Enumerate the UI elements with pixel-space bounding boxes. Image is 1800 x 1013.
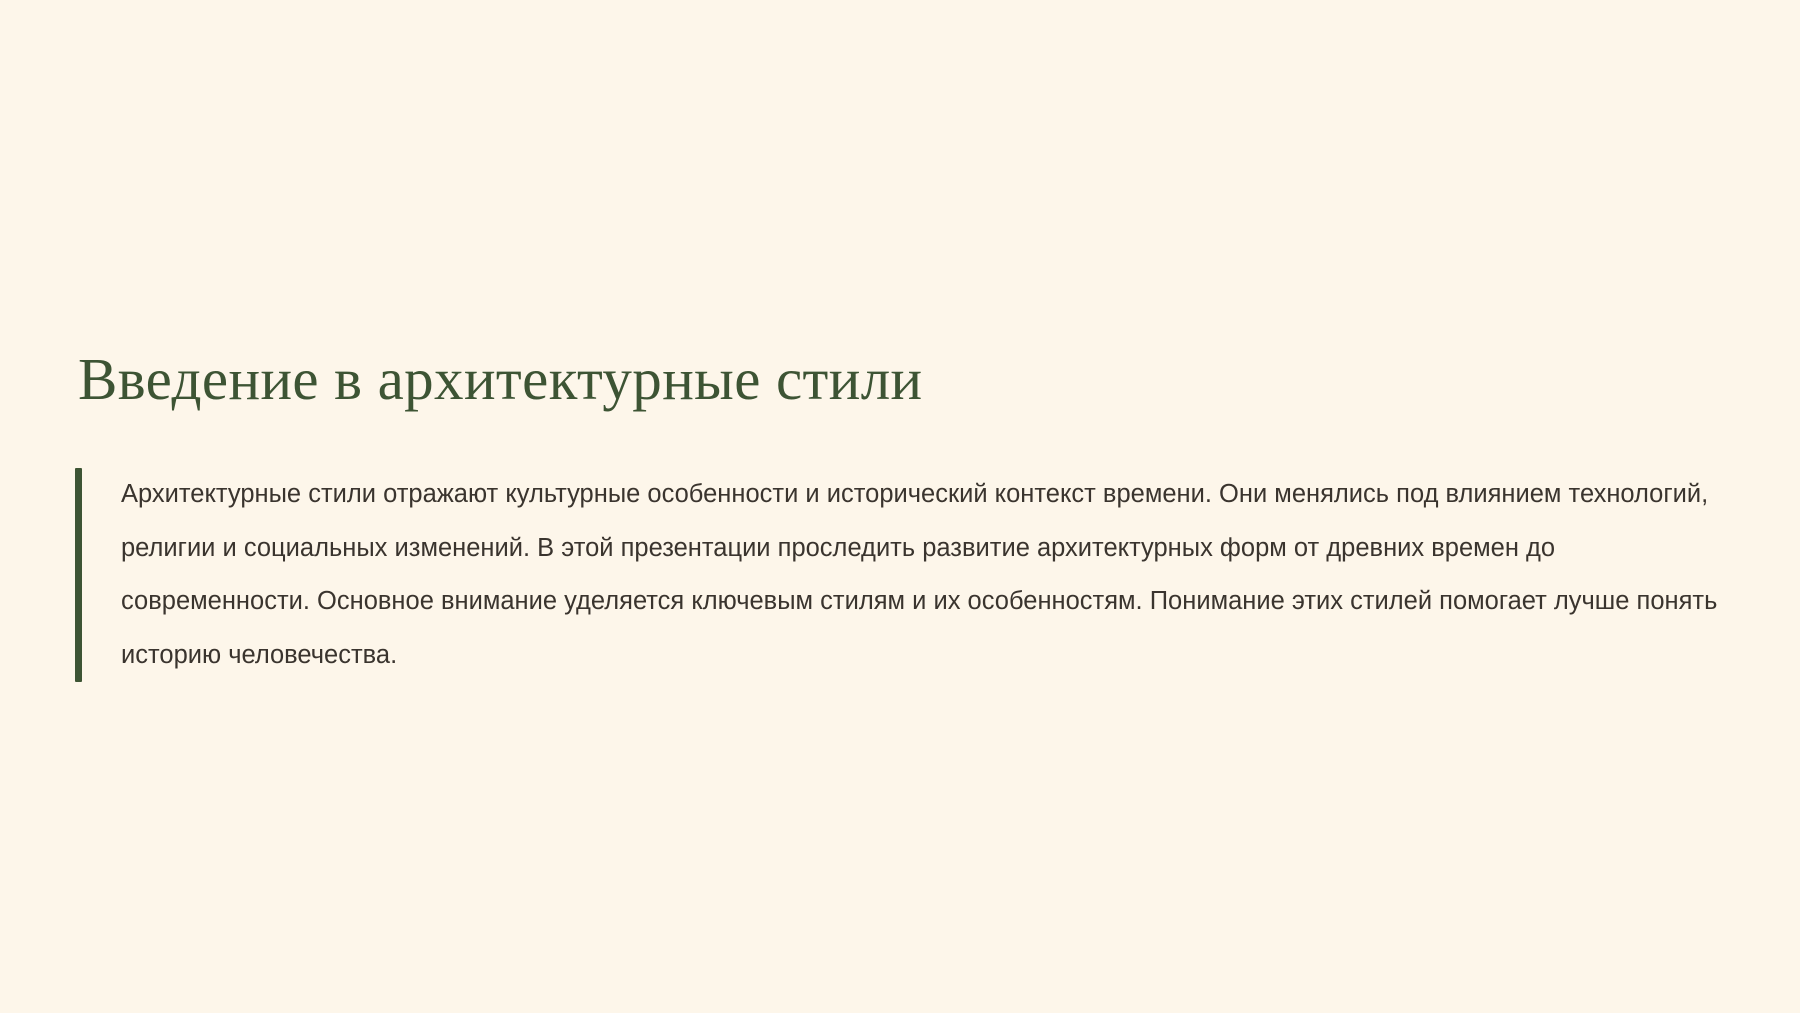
presentation-slide: Введение в архитектурные стили Архитекту… [0, 0, 1800, 1013]
slide-body-block: Архитектурные стили отражают культурные … [75, 468, 1730, 682]
accent-bar [75, 468, 82, 682]
slide-title: Введение в архитектурные стили [78, 346, 923, 412]
slide-body-text: Архитектурные стили отражают культурные … [82, 468, 1730, 682]
